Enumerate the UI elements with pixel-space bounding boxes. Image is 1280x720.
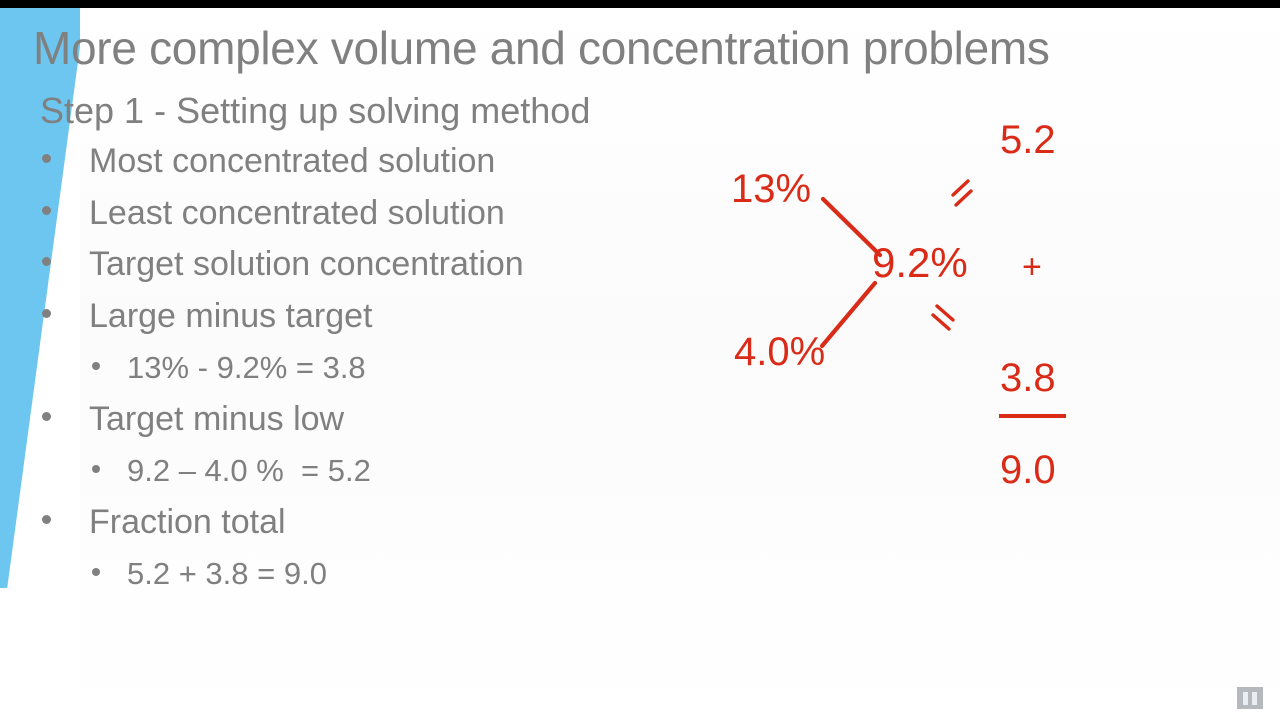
bullet-dot-icon <box>42 515 51 524</box>
list-item-sub: 13% - 9.2% = 3.8 <box>40 342 740 394</box>
list-item-label: 5.2 + 3.8 = 9.0 <box>127 548 327 600</box>
bullet-dot-icon <box>92 362 100 370</box>
list-item-sub: 9.2 – 4.0 % = 5.2 <box>40 445 740 497</box>
total-parts-value: 9.0 <box>1000 450 1056 490</box>
equals-mark-lower-a <box>937 306 953 320</box>
slide-subtitle: Step 1 - Setting up solving method <box>40 90 590 132</box>
slide-canvas: More complex volume and concentration pr… <box>0 0 1280 720</box>
list-item-label: Fraction total <box>89 497 286 549</box>
parts-high-value: 5.2 <box>1000 120 1056 160</box>
parts-low-value: 3.8 <box>1000 358 1056 398</box>
pause-bar-right <box>1252 692 1257 705</box>
letterbox-top-bar <box>0 0 1280 8</box>
page-title: More complex volume and concentration pr… <box>33 21 1050 75</box>
list-item-label: 13% - 9.2% = 3.8 <box>127 342 366 394</box>
plus-operator: + <box>1022 250 1042 284</box>
slide-content: More complex volume and concentration pr… <box>0 8 1280 720</box>
bullet-dot-icon <box>42 154 51 163</box>
dilution-cross-diagram: 13% 9.2% 4.0% 5.2 + 3.8 9.0 <box>700 103 1120 523</box>
list-item: Fraction total <box>40 497 740 549</box>
list-item: Target solution concentration <box>40 239 740 291</box>
equals-mark-upper-b <box>956 191 971 205</box>
bullet-dot-icon <box>42 257 51 266</box>
pause-bar-left <box>1243 692 1248 705</box>
pause-button[interactable] <box>1237 687 1263 709</box>
list-item: Large minus target <box>40 291 740 343</box>
list-item-label: Target solution concentration <box>89 239 524 291</box>
list-item-label: Large minus target <box>89 291 373 343</box>
bullet-dot-icon <box>42 309 51 318</box>
list-item-sub: 5.2 + 3.8 = 9.0 <box>40 548 740 600</box>
list-item-label: Least concentrated solution <box>89 188 505 240</box>
bullet-dot-icon <box>92 465 100 473</box>
diagram-strokes <box>700 103 1120 523</box>
bullet-list: Most concentrated solution Least concent… <box>40 136 740 600</box>
target-concentration-value: 9.2% <box>872 242 968 284</box>
equals-mark-lower-b <box>933 315 949 329</box>
bullet-dot-icon <box>42 206 51 215</box>
list-item-label: Most concentrated solution <box>89 136 495 188</box>
high-concentration-value: 13% <box>731 169 811 209</box>
cross-arm-lower-left <box>822 283 875 346</box>
list-item-label: Target minus low <box>89 394 344 446</box>
low-concentration-value: 4.0% <box>734 332 825 372</box>
bullet-dot-icon <box>92 568 100 576</box>
list-item: Most concentrated solution <box>40 136 740 188</box>
bullet-dot-icon <box>42 412 51 421</box>
equals-mark-upper-a <box>953 181 968 195</box>
list-item: Target minus low <box>40 394 740 446</box>
list-item: Least concentrated solution <box>40 188 740 240</box>
list-item-label: 9.2 – 4.0 % = 5.2 <box>127 445 371 497</box>
